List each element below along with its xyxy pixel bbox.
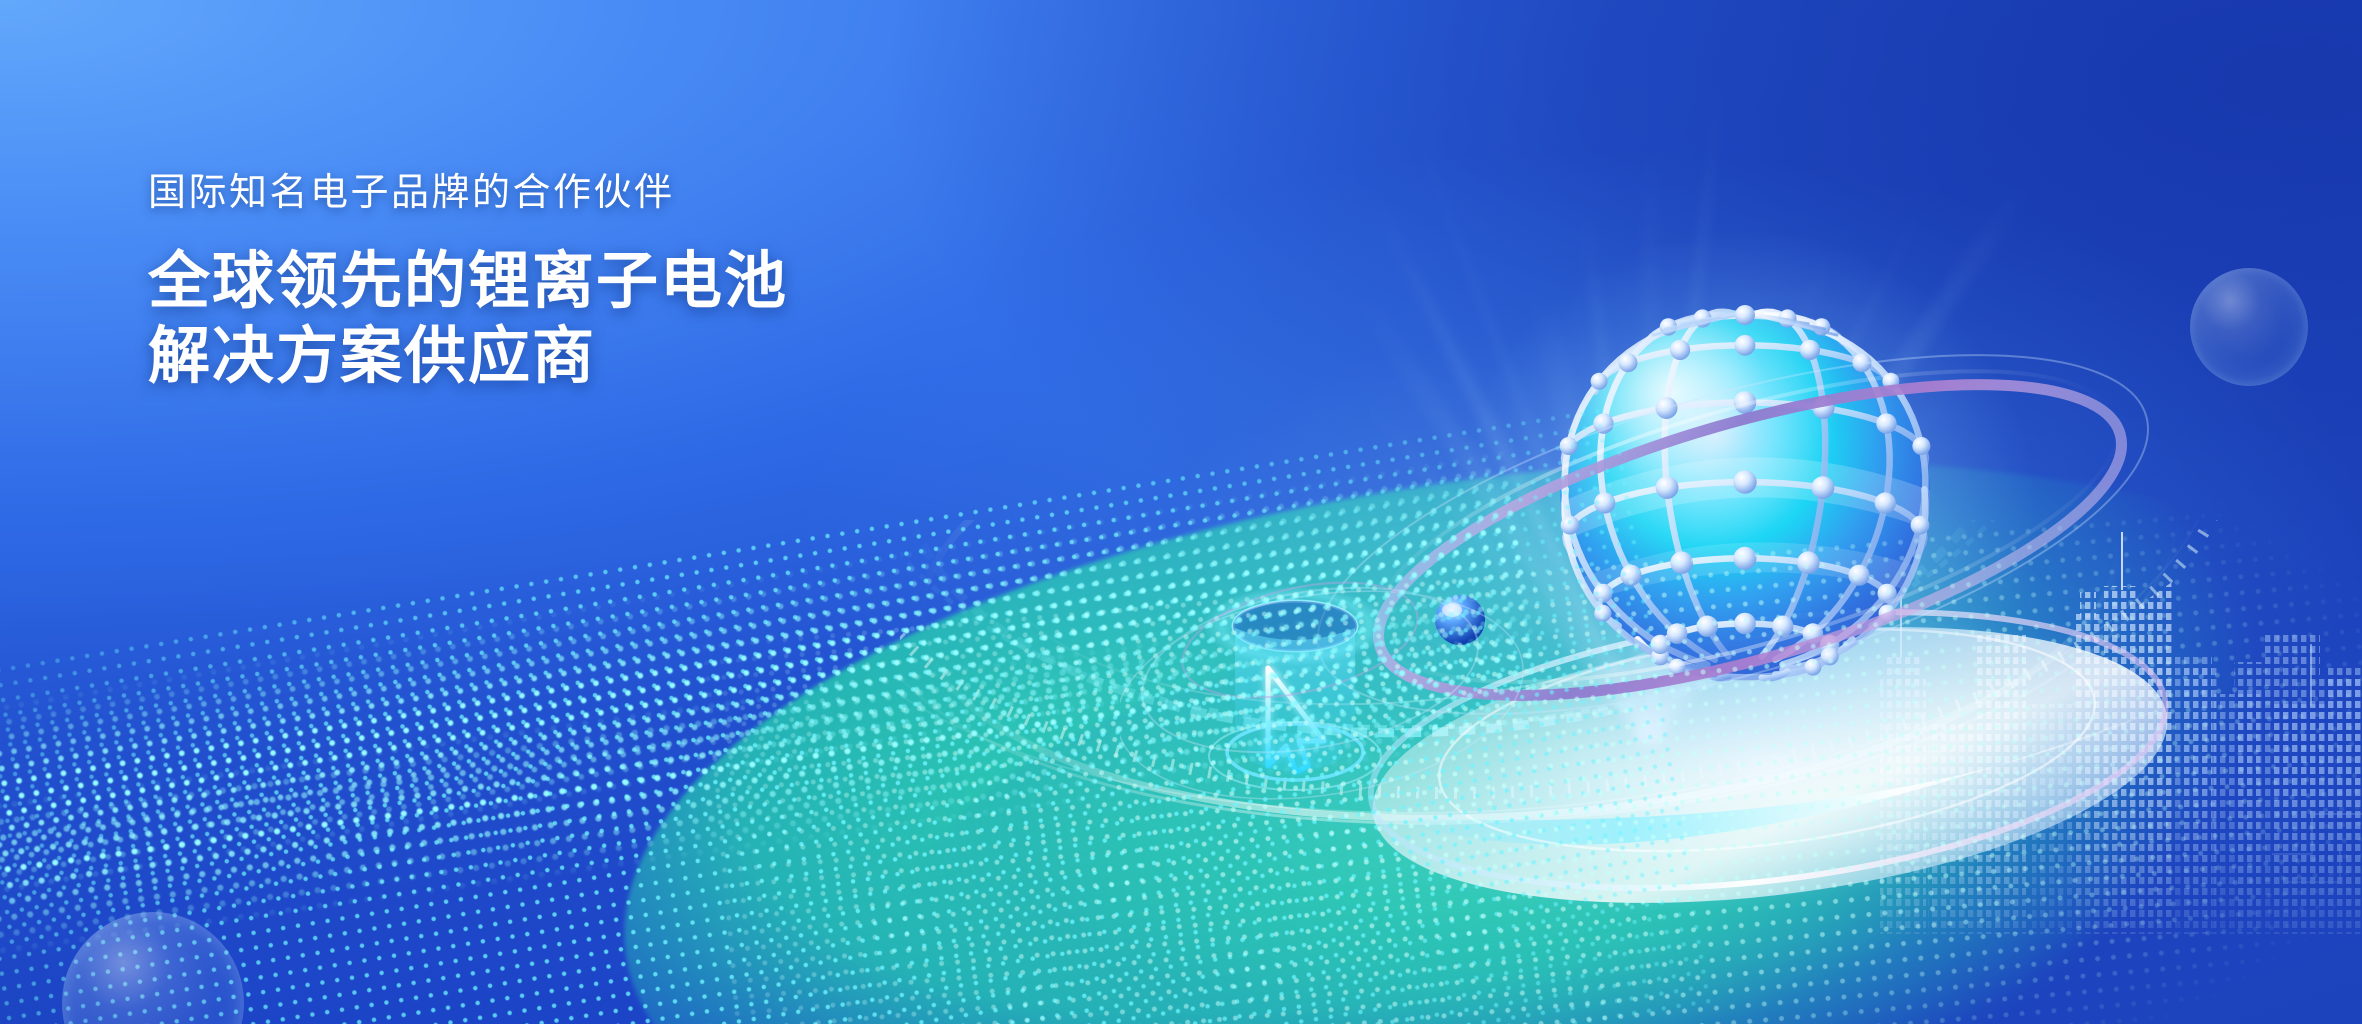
hero-eyebrow: 国际知名电子品牌的合作伙伴 [148, 170, 1048, 218]
hero-headline: 全球领先的锂离子电池 解决方案供应商 [148, 244, 1048, 395]
hero-headline-line-2: 解决方案供应商 [148, 319, 1048, 395]
globe-pole-node [1735, 305, 1755, 325]
hero-headline-line-1: 全球领先的锂离子电池 [148, 244, 1048, 320]
hero-copy: 国际知名电子品牌的合作伙伴 全球领先的锂离子电池 解决方案供应商 [148, 170, 1048, 395]
hero-banner: 国际知名电子品牌的合作伙伴 全球领先的锂离子电池 解决方案供应商 [0, 0, 2362, 1024]
portal-accent-rings [1120, 520, 1540, 880]
